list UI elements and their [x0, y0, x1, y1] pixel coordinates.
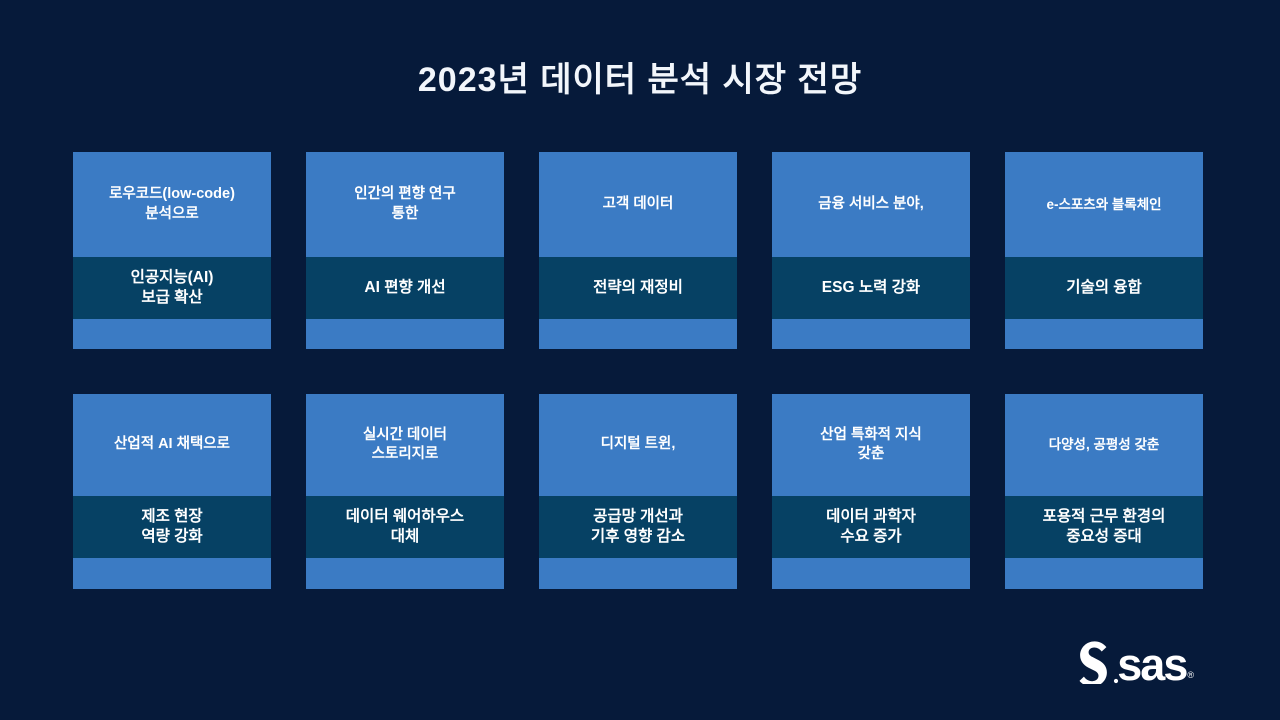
card-footer-bar: [539, 558, 737, 589]
card-statement: 인공지능(AI)보급 확산: [73, 257, 271, 319]
card-statement: 제조 현장역량 강화: [73, 496, 271, 558]
card-headline: 산업적 AI 채택으로: [73, 394, 271, 496]
forecast-card[interactable]: 산업 특화적 지식갖춘 데이터 과학자수요 증가: [772, 394, 970, 589]
forecast-card[interactable]: 디지털 트윈, 공급망 개선과기후 영향 감소: [539, 394, 737, 589]
card-footer-bar: [772, 319, 970, 349]
page-title: 2023년 데이터 분석 시장 전망: [0, 52, 1280, 101]
card-footer-bar: [306, 558, 504, 589]
forecast-card[interactable]: 고객 데이터 전략의 재정비: [539, 152, 737, 349]
card-headline: 고객 데이터: [539, 152, 737, 257]
forecast-card[interactable]: e-스포츠와 블록체인 기술의 융합: [1005, 152, 1203, 349]
card-statement: ESG 노력 강화: [772, 257, 970, 319]
card-footer-bar: [73, 558, 271, 589]
registered-trademark-icon: ®: [1187, 670, 1194, 680]
card-footer-bar: [539, 319, 737, 349]
card-headline: 인간의 편향 연구통한: [306, 152, 504, 257]
card-footer-bar: [772, 558, 970, 589]
forecast-card-grid: 로우코드(low-code)분석으로 인공지능(AI)보급 확산 인간의 편향 …: [73, 152, 1207, 589]
sas-logo: sas ®: [1076, 638, 1194, 684]
card-statement: 기술의 융합: [1005, 257, 1203, 319]
forecast-card[interactable]: 금융 서비스 분야, ESG 노력 강화: [772, 152, 970, 349]
sas-swirl-mark: [1076, 638, 1120, 684]
forecast-card[interactable]: 인간의 편향 연구통한 AI 편향 개선: [306, 152, 504, 349]
forecast-card[interactable]: 실시간 데이터스토리지로 데이터 웨어하우스대체: [306, 394, 504, 589]
card-headline: 다양성, 공평성 갖춘: [1005, 394, 1203, 496]
forecast-card[interactable]: 다양성, 공평성 갖춘 포용적 근무 환경의중요성 증대: [1005, 394, 1203, 589]
card-headline: 금융 서비스 분야,: [772, 152, 970, 257]
forecast-card[interactable]: 산업적 AI 채택으로 제조 현장역량 강화: [73, 394, 271, 589]
card-statement: 전략의 재정비: [539, 257, 737, 319]
card-footer-bar: [1005, 319, 1203, 349]
card-headline: 디지털 트윈,: [539, 394, 737, 496]
sas-wordmark: sas: [1117, 647, 1186, 684]
card-footer-bar: [306, 319, 504, 349]
card-statement: 데이터 과학자수요 증가: [772, 496, 970, 558]
card-statement: 포용적 근무 환경의중요성 증대: [1005, 496, 1203, 558]
forecast-card[interactable]: 로우코드(low-code)분석으로 인공지능(AI)보급 확산: [73, 152, 271, 349]
card-statement: 데이터 웨어하우스대체: [306, 496, 504, 558]
card-headline: 산업 특화적 지식갖춘: [772, 394, 970, 496]
card-headline: 로우코드(low-code)분석으로: [73, 152, 271, 257]
card-statement: AI 편향 개선: [306, 257, 504, 319]
card-headline: 실시간 데이터스토리지로: [306, 394, 504, 496]
card-statement: 공급망 개선과기후 영향 감소: [539, 496, 737, 558]
card-footer-bar: [73, 319, 271, 349]
card-footer-bar: [1005, 558, 1203, 589]
card-headline: e-스포츠와 블록체인: [1005, 152, 1203, 257]
